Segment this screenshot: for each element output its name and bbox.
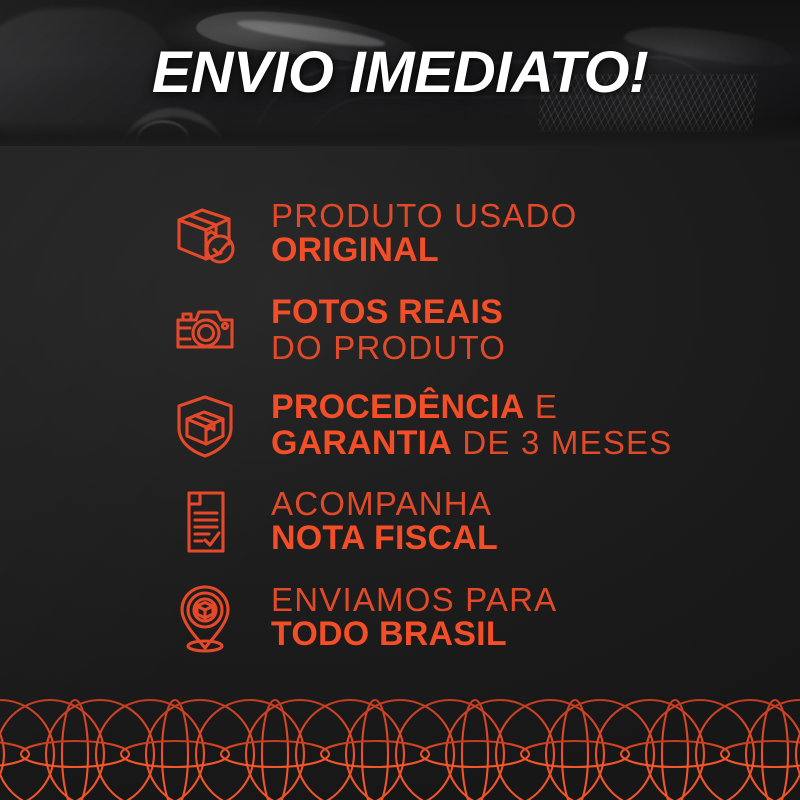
feature-item-fotos-reais: FOTOS REAIS DO PRODUTO [0, 282, 800, 378]
page-title: ENVIO IMEDIATO! [0, 42, 800, 104]
feature-text: ENVIAMOS PARA TODO BRASIL [271, 583, 557, 653]
invoice-document-icon [168, 485, 242, 559]
feature-line-1: ACOMPANHA [271, 487, 498, 522]
feature-line-1: FOTOS REAIS [271, 295, 506, 331]
feature-item-produto-usado-original: PRODUTO USADO ORIGINAL [0, 186, 800, 282]
feature-line-2: NOTA FISCAL [271, 521, 498, 557]
camera-icon [168, 293, 242, 367]
feature-line-2: TODO BRASIL [271, 617, 557, 653]
feature-line-2: GARANTIA DE 3 MESES [271, 426, 672, 462]
feature-line-2-bold: GARANTIA [271, 424, 452, 462]
header-bottom-fade [0, 120, 800, 146]
geometric-floral-border-pattern [0, 692, 800, 800]
feature-text: FOTOS REAIS DO PRODUTO [271, 295, 506, 365]
shield-box-icon [168, 389, 242, 463]
feature-text: PRODUTO USADO ORIGINAL [271, 199, 578, 269]
feature-line-1: ENVIAMOS PARA [271, 583, 557, 618]
feature-line-1-thin: E [524, 388, 558, 425]
box-check-icon [168, 197, 242, 271]
feature-text: PROCEDÊNCIA E GARANTIA DE 3 MESES [271, 390, 672, 461]
feature-line-2-thin: DE 3 MESES [452, 424, 672, 461]
promo-banner: ENVIO IMEDIATO! [0, 0, 800, 800]
feature-line-2: DO PRODUTO [271, 331, 506, 366]
feature-item-nota-fiscal: ACOMPANHA NOTA FISCAL [0, 474, 800, 570]
location-pin-box-icon [168, 581, 242, 655]
feature-item-todo-brasil: ENVIAMOS PARA TODO BRASIL [0, 570, 800, 666]
feature-line-1-bold: PROCEDÊNCIA [271, 388, 524, 426]
feature-line-2: ORIGINAL [271, 233, 578, 269]
feature-list: PRODUTO USADO ORIGINAL [0, 186, 800, 666]
feature-text: ACOMPANHA NOTA FISCAL [271, 487, 498, 557]
feature-line-1: PROCEDÊNCIA E [271, 390, 672, 426]
feature-item-procedencia-garantia: PROCEDÊNCIA E GARANTIA DE 3 MESES [0, 378, 800, 474]
banner-header: ENVIO IMEDIATO! [0, 0, 800, 146]
feature-line-1: PRODUTO USADO [271, 199, 578, 234]
